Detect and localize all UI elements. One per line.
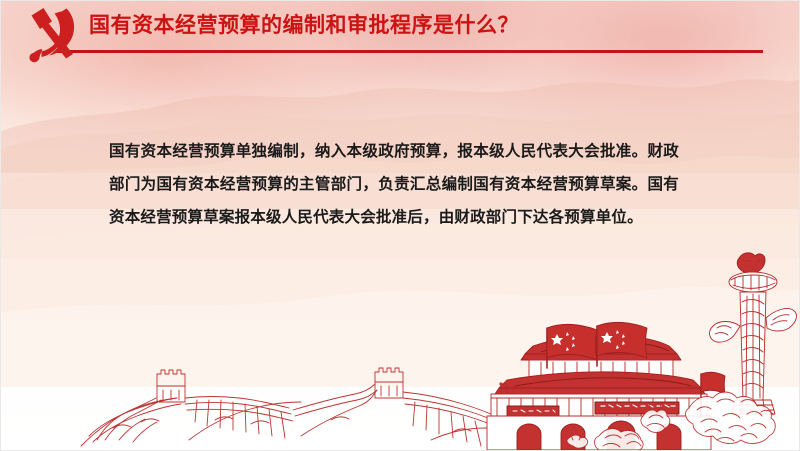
cpc-hammer-sickle-emblem-icon	[17, 5, 81, 63]
title-underline-rule	[56, 50, 763, 53]
body-paragraph: 国有资本经营预算单独编制，纳入本级政府预算，报本级人民代表大会批准。财政部门为国…	[109, 135, 679, 234]
page-title: 国有资本经营预算的编制和审批程序是什么？	[89, 13, 519, 39]
slide-canvas: 国有资本经营预算的编制和审批程序是什么？ 国有资本经营预算单独编制，纳入本级政府…	[0, 0, 800, 451]
slide-header: 国有资本经营预算的编制和审批程序是什么？	[1, 1, 800, 63]
mountain-ridge-haze	[1, 237, 800, 387]
